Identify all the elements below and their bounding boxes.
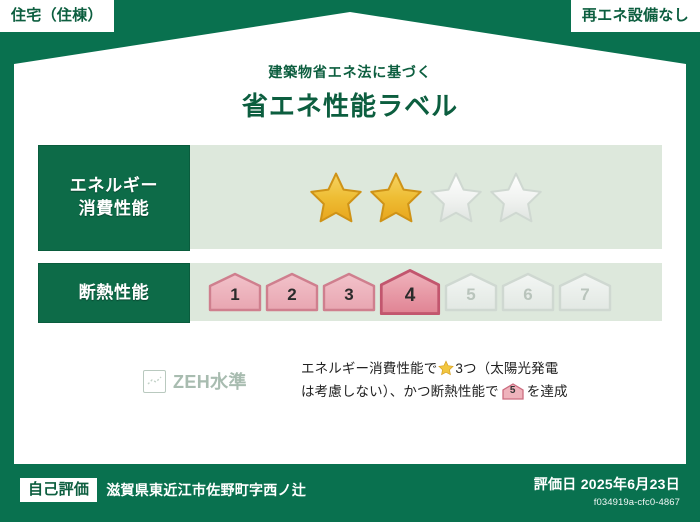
row-insulation-performance: 断熱性能 1234567 [38, 263, 662, 323]
header-subtitle: 建築物省エネ法に基づく [0, 62, 700, 82]
zeh-house-icon [143, 370, 166, 393]
insulation-grade-value: 5 [466, 285, 475, 312]
star-rating [190, 145, 662, 249]
insulation-grade-value: 1 [230, 285, 239, 312]
insulation-grade-2: 2 [265, 272, 319, 312]
row-energy-performance: エネルギー 消費性能 [38, 145, 662, 251]
zeh-desc-line2-a: は考慮しない）、かつ断熱性能で [301, 384, 499, 399]
star-empty-icon [428, 170, 484, 224]
zeh-desc-line1-b: 3つ（太陽光発電 [455, 361, 558, 376]
performance-rows: エネルギー 消費性能 断熱性能 1234567 [38, 145, 662, 335]
insulation-grade-value: 6 [523, 285, 532, 312]
inline-grade-value: 5 [502, 382, 524, 399]
insulation-grade-3: 3 [322, 272, 376, 312]
footer-right: 評価日 2025年6月23日 f034919a-cfc0-4867 [534, 474, 680, 508]
zeh-desc-line1-a: エネルギー消費性能で [301, 361, 437, 376]
zeh-label: ZEH水準 [173, 368, 247, 394]
insulation-grade-scale: 1234567 [190, 263, 662, 321]
evaluation-id: f034919a-cfc0-4867 [534, 497, 680, 508]
row-energy-label-line2: 消費性能 [79, 198, 150, 221]
evaluation-type-badge: 自己評価 [20, 478, 97, 502]
insulation-grade-value: 3 [344, 285, 353, 312]
insulation-grade-value: 7 [580, 285, 589, 312]
insulation-grade-value: 2 [287, 285, 296, 312]
row-insulation-label-line1: 断熱性能 [79, 282, 150, 305]
page-title: 省エネ性能ラベル [0, 86, 700, 123]
evaluation-date: 評価日 2025年6月23日 [534, 474, 680, 494]
row-energy-label-line1: エネルギー [70, 175, 158, 198]
zeh-desc-line1: エネルギー消費性能で3つ（太陽光発電 [301, 358, 662, 381]
star-filled-icon [308, 170, 364, 224]
tag-building-type: 住宅（住棟） [0, 0, 114, 32]
footer-left: 自己評価 滋賀県東近江市佐野町字西ノ辻 [20, 478, 306, 502]
row-energy-label: エネルギー 消費性能 [38, 145, 190, 251]
insulation-grade-value: 4 [405, 285, 416, 316]
property-address: 滋賀県東近江市佐野町字西ノ辻 [106, 480, 306, 500]
star-empty-icon [488, 170, 544, 224]
header: 建築物省エネ法に基づく 省エネ性能ラベル [0, 62, 700, 123]
zeh-description: エネルギー消費性能で3つ（太陽光発電 は考慮しない）、かつ断熱性能で5を達成 [273, 358, 662, 404]
footer: 自己評価 滋賀県東近江市佐野町字西ノ辻 評価日 2025年6月23日 f0349… [0, 464, 700, 522]
inline-star-icon [438, 360, 454, 376]
row-insulation-label: 断熱性能 [38, 263, 190, 323]
insulation-grade-1: 1 [208, 272, 262, 312]
zeh-section: ZEH水準 エネルギー消費性能で3つ（太陽光発電 は考慮しない）、かつ断熱性能で… [38, 358, 662, 404]
star-filled-icon [368, 170, 424, 224]
zeh-mark: ZEH水準 [38, 358, 273, 394]
insulation-grade-6: 6 [501, 272, 555, 312]
insulation-grade-7: 7 [558, 272, 612, 312]
inline-grade-badge: 5 [502, 383, 524, 400]
zeh-desc-line2: は考慮しない）、かつ断熱性能で5を達成 [301, 381, 662, 404]
zeh-desc-line2-b: を達成 [527, 384, 568, 399]
insulation-grade-5: 5 [444, 272, 498, 312]
energy-label-card: 住宅（住棟） 再エネ設備なし 建築物省エネ法に基づく 省エネ性能ラベル エネルギ… [0, 0, 700, 522]
insulation-grade-4: 4 [379, 268, 441, 316]
tag-renewable-energy: 再エネ設備なし [571, 0, 700, 32]
